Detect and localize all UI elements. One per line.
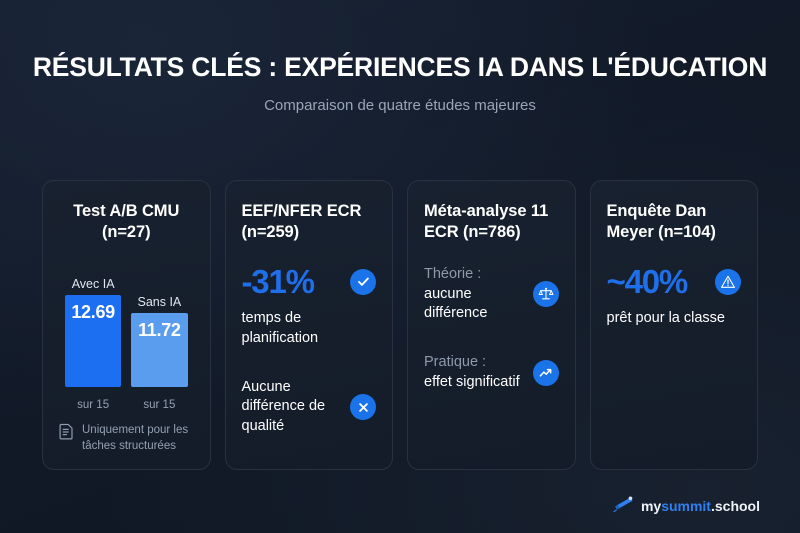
stat-label-wrap: prêt pour la classe: [607, 309, 742, 328]
bar-sublabel-0: sur 15: [65, 399, 121, 411]
bar-value-1: 11.72: [138, 320, 181, 387]
stat-label-wrap: temps de planification: [242, 309, 377, 348]
stat-label: Aucune différence de qualité: [242, 378, 343, 436]
card-enquete-dan-meyer: Enquête Dan Meyer (n=104) ~40% prêt pour…: [590, 180, 759, 470]
card-footnote: Uniquement pour les tâches structurées: [59, 417, 194, 455]
stat-row: Théorie : aucune différence: [424, 265, 559, 323]
cards-row: Test A/B CMU (n=27) Avec IA 12.69 Sans I…: [42, 180, 758, 470]
stat-label-muted: Théorie :: [424, 265, 525, 284]
card-title: Enquête Dan Meyer (n=104): [607, 201, 742, 243]
stat-block-1: -31% temps de planification: [242, 265, 377, 348]
bar-chart-axis-labels: sur 15 sur 15: [65, 399, 188, 411]
bar-chart: Avec IA 12.69 Sans IA 11.72 sur 15 sur 1…: [59, 261, 194, 411]
trending-up-icon: [533, 360, 559, 386]
page-header: RÉSULTATS CLÉS : EXPÉRIENCES IA DANS L'É…: [0, 0, 800, 114]
card-title: Test A/B CMU (n=27): [59, 201, 194, 243]
logo-text: mysummit.school: [641, 498, 760, 514]
page-subtitle: Comparaison de quatre études majeures: [0, 97, 800, 114]
bar-group-avec-ia: Avec IA 12.69: [65, 261, 121, 387]
card-title: Méta-analyse 11 ECR (n=786): [424, 201, 559, 243]
stat-block-2: Pratique : effet significatif: [424, 353, 559, 392]
bar-1: 11.72: [131, 313, 187, 387]
bar-label-1: Sans IA: [131, 295, 187, 309]
bar-group-sans-ia: Sans IA 11.72: [131, 261, 187, 387]
bar-label-0: Avec IA: [65, 277, 121, 291]
stat-label: aucune différence: [424, 285, 525, 324]
logo-text-school: .school: [711, 498, 760, 514]
stat-label: effet significatif: [424, 373, 525, 392]
bar-value-0: 12.69: [71, 302, 115, 387]
stat-row: Pratique : effet significatif: [424, 353, 559, 392]
card-eef-nfer-ecr: EEF/NFER ECR (n=259) -31% temps de plani…: [225, 180, 394, 470]
stat-label-wrap: Pratique : effet significatif: [424, 353, 525, 392]
stat-row: -31%: [242, 265, 377, 298]
stat-row: ~40%: [607, 265, 742, 298]
stat-label-wrap: Aucune différence de qualité: [242, 378, 343, 436]
bar-0: 12.69: [65, 295, 121, 387]
stat-block-1: Théorie : aucune différence: [424, 265, 559, 323]
warning-icon: [715, 269, 741, 295]
logo-text-my: my: [641, 498, 661, 514]
stat-block-1: ~40% prêt pour la classe: [607, 265, 742, 328]
stat-label-muted: Pratique :: [424, 353, 525, 372]
stat-block-2: Aucune différence de qualité: [242, 378, 377, 436]
card-meta-analyse: Méta-analyse 11 ECR (n=786) Théorie : au…: [407, 180, 576, 470]
stat-label-wrap: Théorie : aucune différence: [424, 265, 525, 323]
scales-icon: [533, 281, 559, 307]
logo-text-summit: summit: [661, 498, 711, 514]
brand-logo: mysummit.school: [612, 496, 760, 515]
page-title: RÉSULTATS CLÉS : EXPÉRIENCES IA DANS L'É…: [0, 52, 800, 83]
close-icon: [350, 394, 376, 420]
check-icon: [350, 269, 376, 295]
bar-chart-bars: Avec IA 12.69 Sans IA 11.72: [65, 261, 188, 387]
stat-value: ~40%: [607, 265, 688, 298]
telescope-icon: [612, 496, 634, 515]
footnote-text: Uniquement pour les tâches structurées: [82, 423, 194, 455]
card-title: EEF/NFER ECR (n=259): [242, 201, 377, 243]
stat-row: Aucune différence de qualité: [242, 378, 377, 436]
stat-value: -31%: [242, 265, 314, 298]
bar-sublabel-1: sur 15: [131, 399, 187, 411]
stat-label: temps de planification: [242, 309, 377, 348]
document-icon: [59, 423, 74, 445]
stat-label: prêt pour la classe: [607, 309, 742, 328]
card-test-ab-cmu: Test A/B CMU (n=27) Avec IA 12.69 Sans I…: [42, 180, 211, 470]
